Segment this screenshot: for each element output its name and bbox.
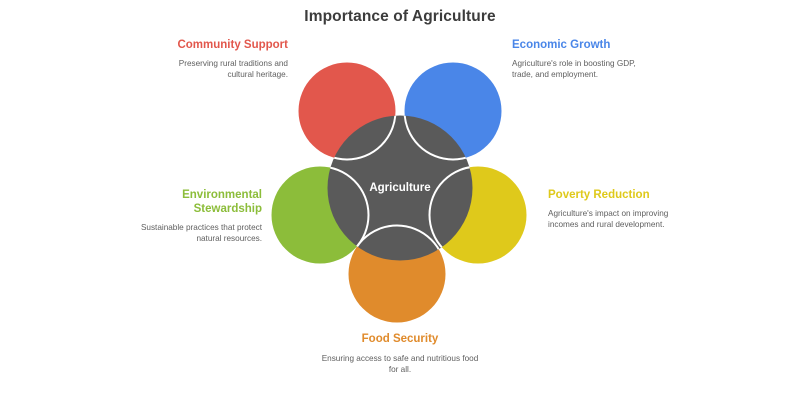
hub-label: Agriculture [369,182,430,194]
callout-title-poverty-reduction: Poverty Reduction [548,188,672,202]
callout-poverty-reduction[interactable]: Poverty Reduction Agriculture's impact o… [548,188,672,230]
callout-title-economic-growth: Economic Growth [512,38,640,52]
callout-title-community-support: Community Support [166,38,288,52]
callout-title-environmental-stewardship: Environmental Stewardship [140,188,262,216]
callout-food-security[interactable]: Food Security Ensuring access to safe an… [320,332,480,375]
callout-desc-food-security: Ensuring access to safe and nutritious f… [320,353,480,375]
diagram-canvas: Importance of Agriculture Agriculture Co… [0,0,800,400]
callout-desc-environmental-stewardship: Sustainable practices that protect natur… [140,222,262,244]
callout-environmental-stewardship[interactable]: Environmental Stewardship Sustainable pr… [140,188,262,244]
callout-desc-poverty-reduction: Agriculture's impact on improving income… [548,208,672,230]
callout-community-support[interactable]: Community Support Preserving rural tradi… [166,38,288,80]
callout-desc-economic-growth: Agriculture's role in boosting GDP, trad… [512,58,640,80]
callout-desc-community-support: Preserving rural traditions and cultural… [166,58,288,80]
callout-economic-growth[interactable]: Economic Growth Agriculture's role in bo… [512,38,640,80]
callout-title-food-security: Food Security [320,332,480,346]
